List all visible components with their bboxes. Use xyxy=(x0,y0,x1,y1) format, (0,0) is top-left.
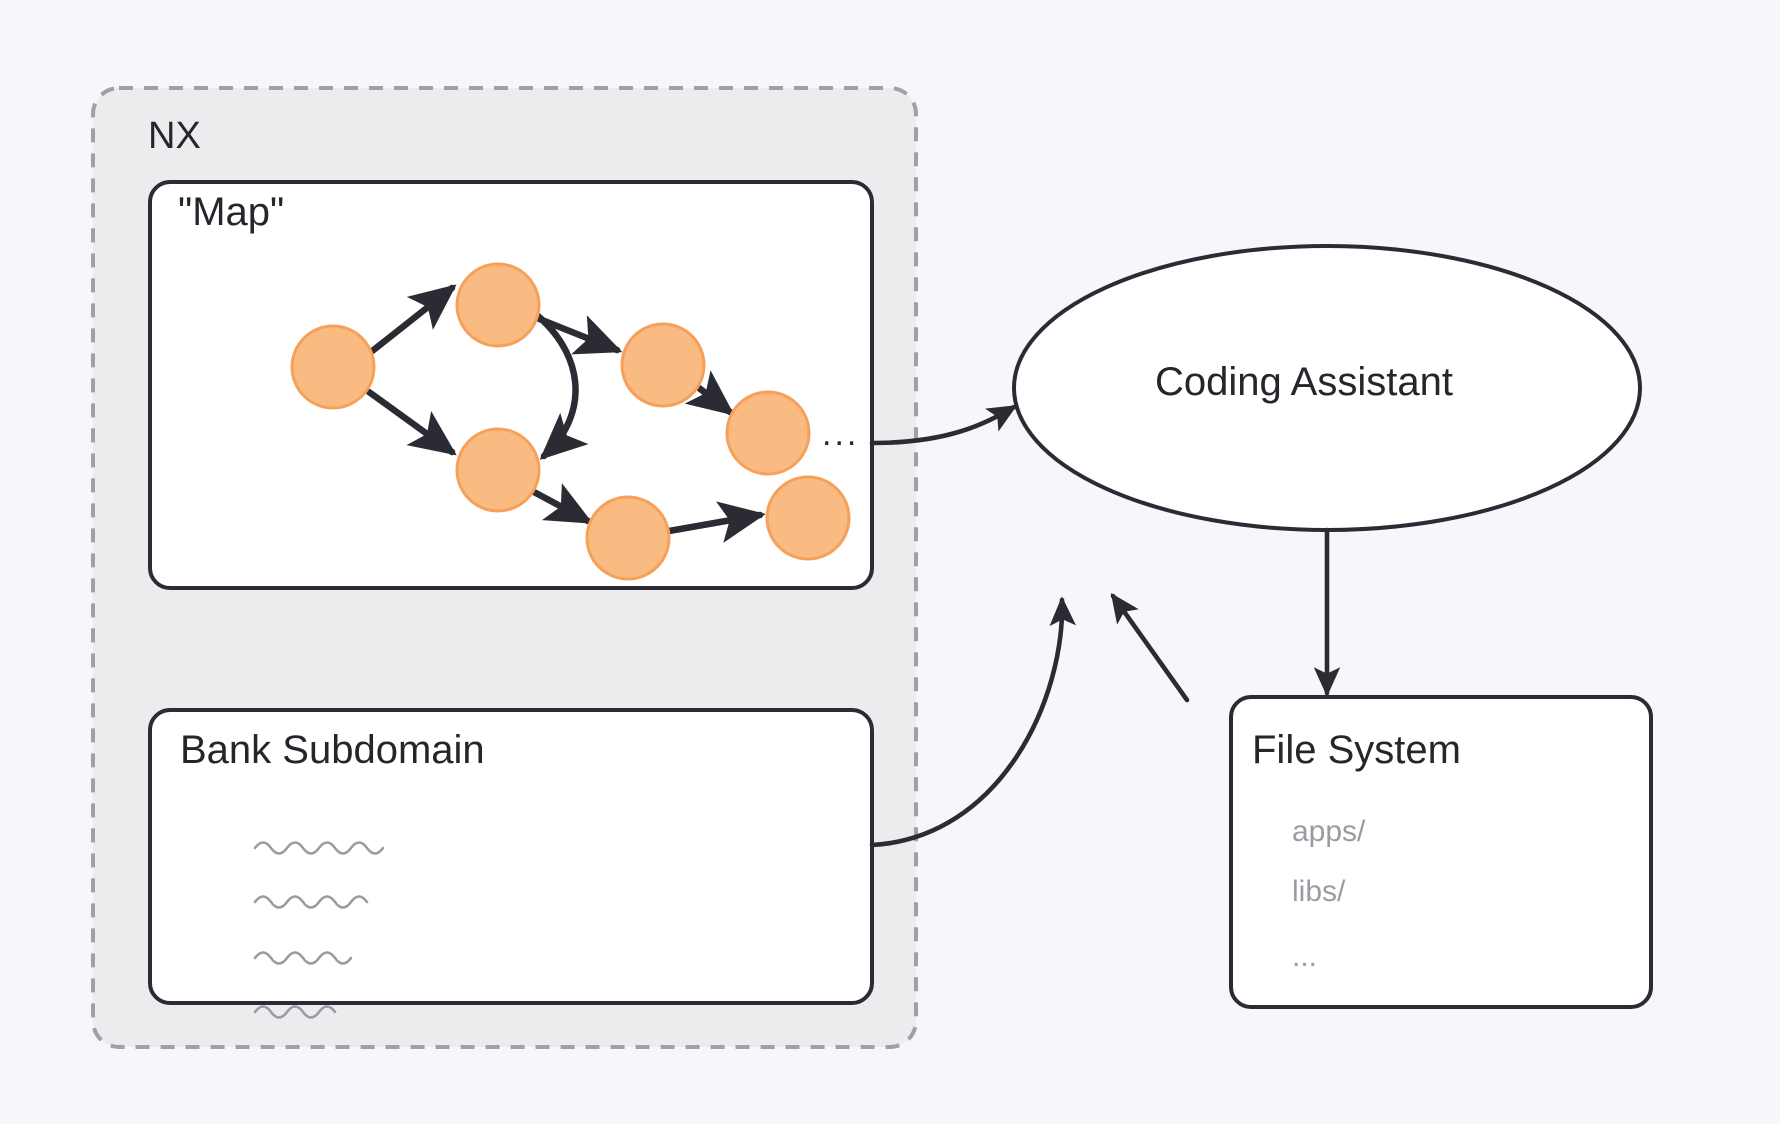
map-card[interactable] xyxy=(150,182,872,588)
nx-group-label: NX xyxy=(148,115,201,158)
file-system-item: libs/ xyxy=(1292,875,1345,909)
graph-node[interactable] xyxy=(622,324,704,406)
file-system-item: ... xyxy=(1292,940,1317,974)
graph-node[interactable] xyxy=(457,264,539,346)
diagram-canvas: NX "Map" Bank Subdomain File System Codi… xyxy=(0,0,1780,1124)
graph-node[interactable] xyxy=(457,429,539,511)
graph-node[interactable] xyxy=(727,392,809,474)
file-system-item: apps/ xyxy=(1292,815,1365,849)
graph-node[interactable] xyxy=(587,497,669,579)
map-card-title: "Map" xyxy=(178,190,284,235)
file-system-title: File System xyxy=(1252,728,1461,773)
graph-node[interactable] xyxy=(292,326,374,408)
diagram-svg xyxy=(0,0,1780,1124)
coding-assistant-label: Coding Assistant xyxy=(1155,360,1453,405)
map-graph-ellipsis: ... xyxy=(822,415,859,454)
connector-filesystem-to-assistant xyxy=(1113,596,1187,700)
bank-subdomain-title: Bank Subdomain xyxy=(180,728,485,773)
graph-node[interactable] xyxy=(767,477,849,559)
